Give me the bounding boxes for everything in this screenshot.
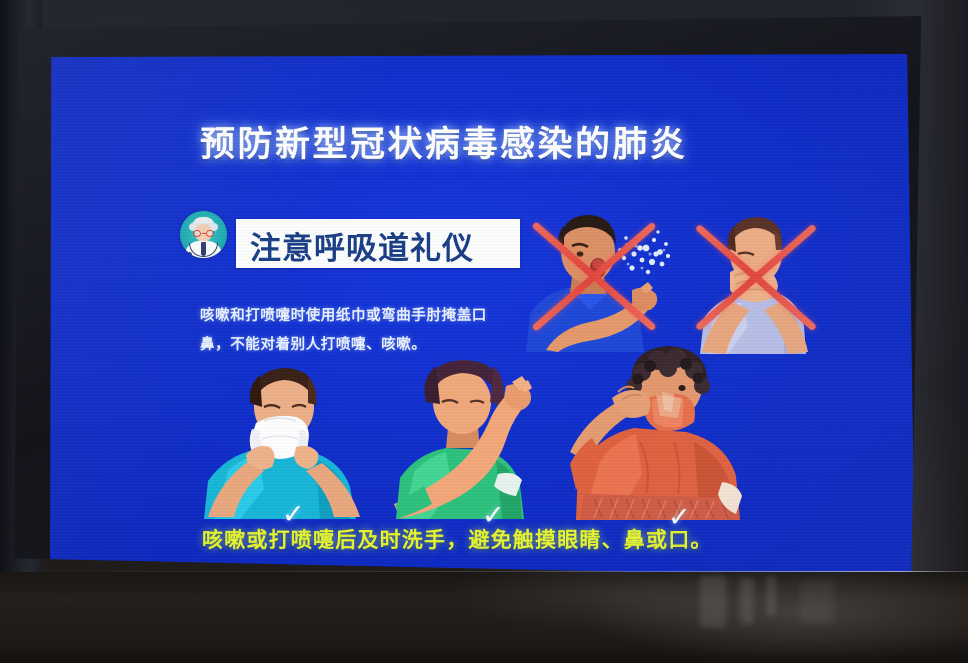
photo-of-display-on-wall: 预防新型冠状病毒感染的肺炎 注意呼吸道礼仪 咳嗽和打喷嚏时使用纸巾或弯曲手肘掩盖… — [0, 0, 968, 663]
desk-surface — [0, 572, 968, 663]
doctor-avatar-icon — [180, 211, 227, 258]
illustration-use-tissue: ✓ — [200, 359, 370, 519]
slide-canvas: 预防新型冠状病毒感染的肺炎 注意呼吸道礼仪 咳嗽和打喷嚏时使用纸巾或弯曲手肘掩盖… — [50, 54, 915, 583]
page-title: 预防新型冠状病毒感染的肺炎 — [200, 116, 720, 167]
body-paragraph: 咳嗽和打喷嚏时使用纸巾或弯曲手肘掩盖口鼻，不能对着别人打喷嚏、咳嗽。 — [200, 302, 490, 360]
illustration-cough-into-collar: ✓ — [570, 342, 755, 520]
illustration-cough-into-elbow: ✓ — [390, 354, 550, 519]
tv-bezel: 预防新型冠状病毒感染的肺炎 注意呼吸道礼仪 咳嗽和打喷嚏时使用纸巾或弯曲手肘掩盖… — [14, 16, 924, 578]
section-heading-banner: 注意呼吸道礼仪 — [236, 219, 520, 268]
slide-caption: 咳嗽或打喷嚏后及时洗手，避免触摸眼睛、鼻或口。 — [202, 524, 782, 554]
section-heading-label: 注意呼吸道礼仪 — [250, 223, 474, 268]
illustration-sneeze-openly — [520, 202, 680, 352]
tv-screen: 预防新型冠状病毒感染的肺炎 注意呼吸道礼仪 咳嗽和打喷嚏时使用纸巾或弯曲手肘掩盖… — [50, 54, 915, 583]
avatar-glasses — [193, 230, 214, 237]
illustration-cover-with-hands — [688, 206, 828, 354]
